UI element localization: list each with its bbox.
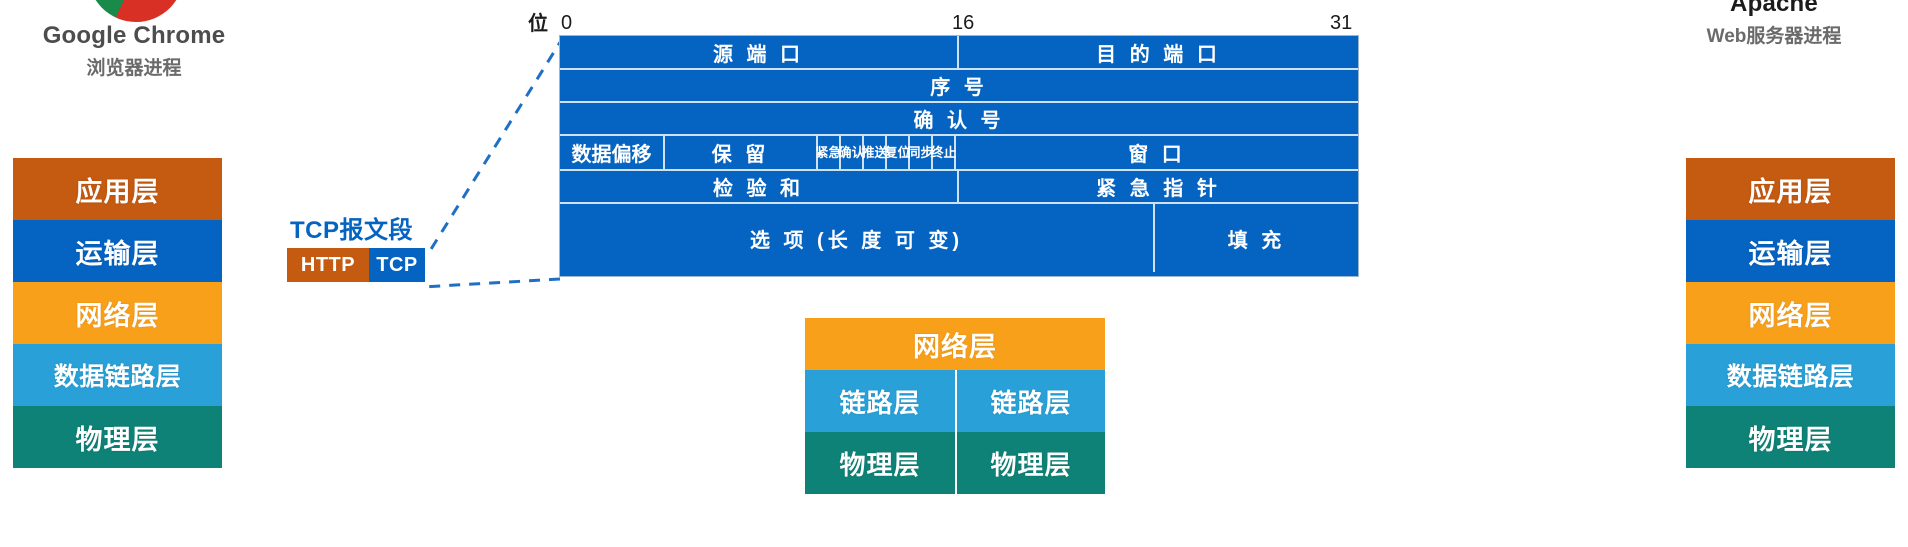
right-layer-transport[interactable]: 运输层 xyxy=(1686,220,1895,282)
segment-cell-http[interactable]: HTTP xyxy=(287,248,369,282)
segment-cell-tcp[interactable]: TCP xyxy=(369,248,425,282)
left-endpoint-header: Google Chrome 浏览器进程 xyxy=(0,24,268,78)
tcp-field-options[interactable]: 选 项 (长 度 可 变) xyxy=(560,204,1155,272)
right-endpoint-subtitle: Web服务器进程 xyxy=(1640,27,1908,46)
tcp-header-table: 源 端 口 目 的 端 口 序 号 确 认 号 数据偏移 保 留 紧急 确认 推… xyxy=(560,36,1358,276)
tcp-field-sequence-number[interactable]: 序 号 xyxy=(560,70,1358,101)
left-layer-application[interactable]: 应用层 xyxy=(13,158,222,220)
tcp-field-window[interactable]: 窗 口 xyxy=(956,136,1358,169)
router-layer-physical-left[interactable]: 物理层 xyxy=(805,432,955,494)
right-protocol-stack: 应用层 运输层 网络层 数据链路层 物理层 xyxy=(1686,158,1895,468)
left-layer-network[interactable]: 网络层 xyxy=(13,282,222,344)
tcp-field-source-port[interactable]: 源 端 口 xyxy=(560,36,959,68)
tcp-field-acknowledgement-number[interactable]: 确 认 号 xyxy=(560,103,1358,134)
left-endpoint-subtitle: 浏览器进程 xyxy=(0,59,268,78)
tcp-field-reserved[interactable]: 保 留 xyxy=(665,136,818,169)
bit-tick-16: 16 xyxy=(952,13,974,33)
right-layer-application[interactable]: 应用层 xyxy=(1686,158,1895,220)
tcp-header-row: 源 端 口 目 的 端 口 xyxy=(560,36,1358,70)
bit-ruler-unit: 位 xyxy=(528,14,548,34)
tcp-flag-fin[interactable]: 终止 xyxy=(933,136,956,169)
right-endpoint-header: Apache Web服务器进程 xyxy=(1640,0,1908,46)
router-layer-link-right[interactable]: 链路层 xyxy=(955,370,1105,432)
tcp-field-destination-port[interactable]: 目 的 端 口 xyxy=(959,36,1358,68)
diagram-canvas: Google Chrome 浏览器进程 应用层 运输层 网络层 数据链路层 物理… xyxy=(0,0,1908,547)
right-layer-network[interactable]: 网络层 xyxy=(1686,282,1895,344)
router-link-row: 链路层 链路层 xyxy=(805,370,1105,432)
right-endpoint-title: Apache xyxy=(1640,0,1908,16)
bit-tick-31: 31 xyxy=(1330,13,1352,33)
tcp-header-row: 序 号 xyxy=(560,70,1358,103)
router-protocol-stack: 网络层 链路层 链路层 物理层 物理层 xyxy=(805,318,1105,494)
tcp-header-row: 数据偏移 保 留 紧急 确认 推送 复位 同步 终止 窗 口 xyxy=(560,136,1358,171)
left-layer-transport[interactable]: 运输层 xyxy=(13,220,222,282)
right-layer-physical[interactable]: 物理层 xyxy=(1686,406,1895,468)
tcp-header-row: 检 验 和 紧 急 指 针 xyxy=(560,171,1358,204)
router-physical-row: 物理层 物理层 xyxy=(805,432,1105,494)
router-layer-link-left[interactable]: 链路层 xyxy=(805,370,955,432)
router-layer-physical-right[interactable]: 物理层 xyxy=(955,432,1105,494)
tcp-field-checksum[interactable]: 检 验 和 xyxy=(560,171,959,202)
bit-tick-0: 0 xyxy=(561,13,572,33)
left-layer-physical[interactable]: 物理层 xyxy=(13,406,222,468)
right-layer-datalink[interactable]: 数据链路层 xyxy=(1686,344,1895,406)
tcp-field-data-offset[interactable]: 数据偏移 xyxy=(560,136,665,169)
tcp-header-row: 选 项 (长 度 可 变) 填 充 xyxy=(560,204,1358,272)
chrome-logo-icon xyxy=(88,0,184,22)
tcp-segment-label: TCP报文段 xyxy=(290,210,413,245)
tcp-segment-bar: HTTP TCP xyxy=(287,248,425,282)
router-layer-network[interactable]: 网络层 xyxy=(805,318,1105,370)
tcp-header-row: 确 认 号 xyxy=(560,103,1358,136)
tcp-field-urgent-pointer[interactable]: 紧 急 指 针 xyxy=(959,171,1358,202)
left-layer-datalink[interactable]: 数据链路层 xyxy=(13,344,222,406)
tcp-field-padding[interactable]: 填 充 xyxy=(1155,204,1358,272)
left-protocol-stack: 应用层 运输层 网络层 数据链路层 物理层 xyxy=(13,158,222,468)
left-endpoint-title: Google Chrome xyxy=(0,24,268,48)
